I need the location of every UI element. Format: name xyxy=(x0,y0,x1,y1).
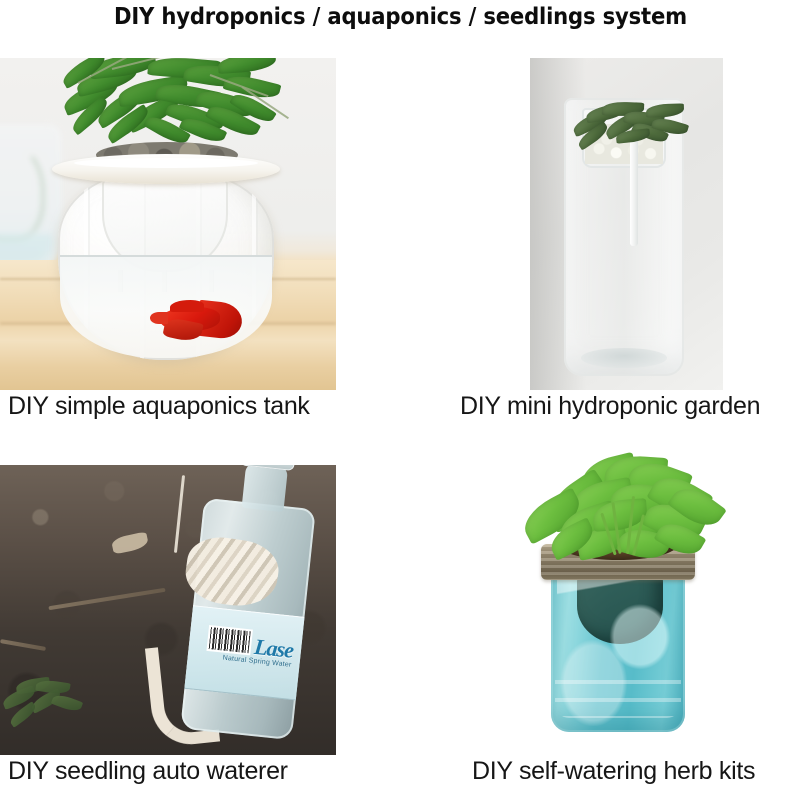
fish-head xyxy=(150,312,168,324)
bottle-neck xyxy=(242,465,289,512)
page-title: DIY hydroponics / aquaponics / seedlings… xyxy=(32,4,769,30)
leaf xyxy=(646,103,684,117)
betta-fish xyxy=(146,298,250,342)
white-planter-tray xyxy=(52,154,280,184)
dark-green-leaves xyxy=(572,102,682,146)
seedling-leaves xyxy=(2,675,92,731)
background-stem-blur xyxy=(0,144,44,240)
photo-auto-waterer[interactable]: Lase Natural Spring Water xyxy=(0,465,336,755)
tall-glass-jar xyxy=(564,98,684,376)
photo-hydroponic-garden[interactable] xyxy=(530,58,723,390)
leaf xyxy=(51,692,83,714)
fish-dorsal-fin xyxy=(170,300,204,312)
leaf xyxy=(217,58,276,74)
bottle-label: Lase Natural Spring Water xyxy=(184,605,304,700)
green-plant-foliage xyxy=(60,58,276,156)
jar-embossed-rings xyxy=(555,666,681,718)
caption-auto-waterer: DIY seedling auto waterer xyxy=(8,757,288,786)
background-jar-blur xyxy=(0,124,62,274)
caption-aquaponics-tank: DIY simple aquaponics tank xyxy=(8,392,310,421)
barcode xyxy=(209,627,251,653)
leaf xyxy=(35,679,70,696)
blue-mason-jar xyxy=(551,566,685,732)
caption-herb-kits: DIY self-watering herb kits xyxy=(472,757,755,786)
basil-plant xyxy=(519,456,731,564)
caption-hydroponic-garden: DIY mini hydroponic garden xyxy=(460,392,760,421)
photo-aquaponics-tank[interactable] xyxy=(0,58,336,390)
photo-herb-kits[interactable] xyxy=(455,448,801,748)
glass-fish-bowl xyxy=(58,170,274,360)
